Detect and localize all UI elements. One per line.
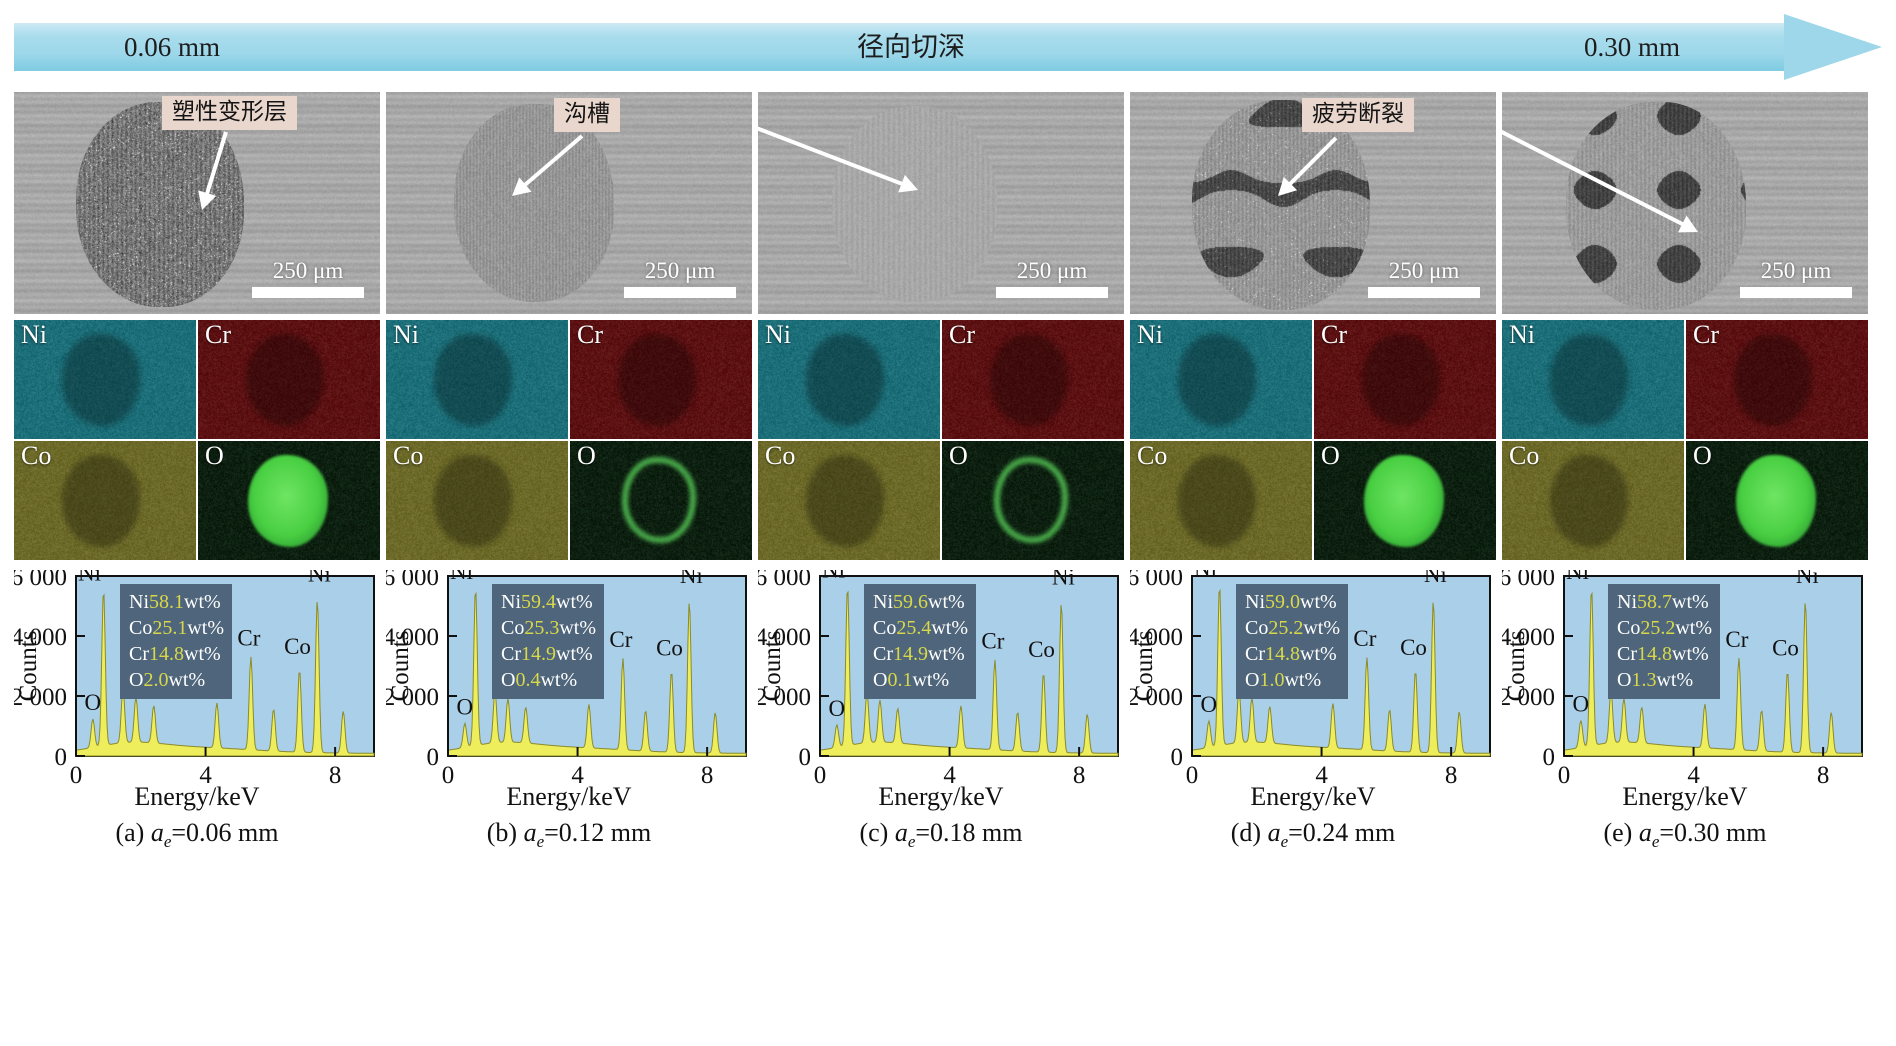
composition-element: O xyxy=(1245,669,1259,691)
composition-value: 2.0 xyxy=(143,669,168,691)
eds-map-cell-ni: Ni xyxy=(1130,320,1312,439)
eds-map-cell-co: Co xyxy=(14,441,196,560)
composition-element: Ni xyxy=(1245,591,1265,613)
eds-map-cell-o: O xyxy=(1686,441,1868,560)
composition-box-b: Ni59.4wt%Co25.3wt%Cr14.9wt%O0.4wt% xyxy=(492,584,604,699)
panel-caption-d: (d) ae=0.24 mm xyxy=(1130,818,1496,852)
caption-symbol: a xyxy=(524,818,537,847)
panel-caption-a: (a) ae=0.06 mm xyxy=(14,818,380,852)
svg-text:Cr: Cr xyxy=(1353,626,1376,651)
eds-spectrum-a: 6 0004 0002 0000048ONiCrCoNi Counts Ni58… xyxy=(14,570,380,840)
composition-row: Ni59.6wt% xyxy=(873,589,968,615)
composition-element: Cr xyxy=(873,643,893,665)
eds-map-cell-co: Co xyxy=(1130,441,1312,560)
svg-text:Counts: Counts xyxy=(387,631,414,702)
svg-text:Counts: Counts xyxy=(1131,631,1158,702)
composition-row: Cr14.8wt% xyxy=(1245,641,1340,667)
svg-text:Ni: Ni xyxy=(308,570,331,587)
composition-value: 0.4 xyxy=(515,669,540,691)
composition-unit: wt% xyxy=(559,617,596,639)
eds-map-cell-o: O xyxy=(942,441,1124,560)
panel-column-e: 250 μmNiCrCoO 6 0004 0002 0000048ONiCrCo… xyxy=(1502,92,1868,1032)
eds-map-label: O xyxy=(577,442,596,469)
eds-map-cell-ni: Ni xyxy=(1502,320,1684,439)
svg-text:Ni: Ni xyxy=(450,570,473,584)
composition-value: 58.7 xyxy=(1637,591,1672,613)
composition-row: Cr14.9wt% xyxy=(501,641,596,667)
sem-micrograph-e: 250 μm xyxy=(1502,92,1868,314)
oxygen-signal-region xyxy=(1736,455,1816,547)
scale-bar-label: 250 μm xyxy=(996,259,1108,282)
svg-text:Counts: Counts xyxy=(15,631,42,702)
svg-text:6 000: 6 000 xyxy=(386,570,439,591)
eds-spectrum-e: 6 0004 0002 0000048ONiCrCoNi Counts Ni58… xyxy=(1502,570,1868,840)
caption-index: (d) xyxy=(1231,818,1261,847)
svg-text:Ni: Ni xyxy=(1194,570,1217,581)
composition-element: Ni xyxy=(501,591,521,613)
oxygen-signal-region xyxy=(622,457,696,543)
panel-caption-c: (c) ae=0.18 mm xyxy=(758,818,1124,852)
sem-micrograph-a: 塑性变形层250 μm xyxy=(14,92,380,314)
svg-text:0: 0 xyxy=(55,744,68,771)
eds-map-cell-cr: Cr xyxy=(1314,320,1496,439)
wear-scar-shadow xyxy=(990,334,1068,426)
eds-map-label: Ni xyxy=(765,321,791,348)
eds-map-label: Cr xyxy=(205,321,231,348)
composition-element: O xyxy=(1617,669,1631,691)
eds-map-label: Cr xyxy=(1321,321,1347,348)
scale-bar-line xyxy=(624,287,736,298)
scale-bar-label: 250 μm xyxy=(624,259,736,282)
caption-symbol: a xyxy=(1268,818,1281,847)
composition-element: Co xyxy=(129,617,152,639)
composition-value: 59.0 xyxy=(1265,591,1300,613)
svg-text:Co: Co xyxy=(1400,635,1427,660)
composition-value: 59.4 xyxy=(521,591,556,613)
wear-scar-region xyxy=(832,106,997,302)
svg-text:6 000: 6 000 xyxy=(1502,570,1555,591)
svg-text:O: O xyxy=(829,696,846,721)
composition-unit: wt% xyxy=(1284,669,1321,691)
eds-map-cell-co: Co xyxy=(758,441,940,560)
composition-element: Co xyxy=(873,617,896,639)
callout-label-a: 塑性变形层 xyxy=(162,96,297,130)
panel-column-b: 沟槽250 μmNiCrCoO 6 0004 0002 0000048ONiCr… xyxy=(386,92,752,1032)
svg-text:O: O xyxy=(85,690,102,715)
wear-scar-shadow xyxy=(806,334,884,426)
composition-unit: wt% xyxy=(556,591,593,613)
eds-map-cell-o: O xyxy=(570,441,752,560)
composition-box-d: Ni59.0wt%Co25.2wt%Cr14.8wt%O1.0wt% xyxy=(1236,584,1348,699)
composition-row: O1.0wt% xyxy=(1245,667,1340,693)
composition-row: Ni58.1wt% xyxy=(129,589,224,615)
sem-micrograph-b: 沟槽250 μm xyxy=(386,92,752,314)
composition-unit: wt% xyxy=(187,617,224,639)
composition-unit: wt% xyxy=(556,643,593,665)
eds-map-cell-ni: Ni xyxy=(758,320,940,439)
caption-index: (b) xyxy=(487,818,517,847)
composition-value: 14.8 xyxy=(149,643,184,665)
caption-index: (c) xyxy=(859,818,888,847)
eds-map-label: Ni xyxy=(1509,321,1535,348)
scale-bar-d: 250 μm xyxy=(1368,259,1480,298)
svg-text:Ni: Ni xyxy=(78,570,101,586)
composition-element: Co xyxy=(501,617,524,639)
svg-text:Ni: Ni xyxy=(1566,570,1589,584)
composition-row: Co25.3wt% xyxy=(501,615,596,641)
svg-text:Ni: Ni xyxy=(822,570,845,583)
svg-text:6 000: 6 000 xyxy=(14,570,67,591)
composition-row: Cr14.9wt% xyxy=(873,641,968,667)
eds-map-label: Cr xyxy=(949,321,975,348)
svg-text:Cr: Cr xyxy=(237,626,260,651)
composition-row: Co25.4wt% xyxy=(873,615,968,641)
caption-symbol: a xyxy=(1639,818,1652,847)
svg-text:Ni: Ni xyxy=(1052,570,1075,590)
eds-element-map-a: NiCrCoO xyxy=(14,320,380,560)
caption-value: =0.12 mm xyxy=(544,818,651,847)
composition-unit: wt% xyxy=(928,643,965,665)
caption-symbol: a xyxy=(895,818,908,847)
panel-column-c: 250 μmNiCrCoO 6 0004 0002 0000048ONiCrCo… xyxy=(758,92,1124,1032)
panel-caption-e: (e) ae=0.30 mm xyxy=(1502,818,1868,852)
svg-text:Co: Co xyxy=(284,634,311,659)
eds-element-map-e: NiCrCoO xyxy=(1502,320,1868,560)
sem-micrograph-c: 250 μm xyxy=(758,92,1124,314)
composition-value: 25.4 xyxy=(896,617,931,639)
wear-scar-region xyxy=(1566,102,1746,310)
banner-center-label: 径向切深 xyxy=(857,23,965,71)
scale-bar-line xyxy=(252,287,364,298)
wear-scar-region xyxy=(76,102,244,307)
svg-text:6 000: 6 000 xyxy=(1130,570,1183,591)
composition-value: 14.8 xyxy=(1637,643,1672,665)
composition-row: O0.4wt% xyxy=(501,667,596,693)
composition-value: 14.9 xyxy=(521,643,556,665)
x-axis-title: Energy/keV xyxy=(1130,782,1496,812)
svg-text:Ni: Ni xyxy=(1424,570,1447,587)
scale-bar-label: 250 μm xyxy=(252,259,364,282)
panel-column-d: 疲劳断裂250 μmNiCrCoO 6 0004 0002 0000048ONi… xyxy=(1130,92,1496,1032)
eds-map-label: Co xyxy=(393,442,423,469)
svg-text:O: O xyxy=(457,695,474,720)
composition-unit: wt% xyxy=(931,617,968,639)
svg-text:0: 0 xyxy=(1171,744,1184,771)
svg-text:0: 0 xyxy=(427,744,440,771)
composition-unit: wt% xyxy=(184,591,221,613)
composition-row: O0.1wt% xyxy=(873,667,968,693)
eds-map-cell-co: Co xyxy=(1502,441,1684,560)
banner-left-label: 0.06 mm xyxy=(124,23,220,71)
wear-scar-shadow xyxy=(434,455,512,547)
wear-scar-shadow xyxy=(246,334,324,426)
composition-row: Ni59.0wt% xyxy=(1245,589,1340,615)
composition-unit: wt% xyxy=(540,669,577,691)
callout-label-b: 沟槽 xyxy=(554,98,620,132)
caption-symbol: a xyxy=(151,818,164,847)
scale-bar-label: 250 μm xyxy=(1740,259,1852,282)
svg-text:Counts: Counts xyxy=(759,631,786,702)
composition-element: Cr xyxy=(501,643,521,665)
composition-element: Ni xyxy=(129,591,149,613)
scale-bar-e: 250 μm xyxy=(1740,259,1852,298)
composition-element: Co xyxy=(1245,617,1268,639)
composition-row: O1.3wt% xyxy=(1617,667,1712,693)
composition-element: Ni xyxy=(1617,591,1637,613)
composition-box-c: Ni59.6wt%Co25.4wt%Cr14.9wt%O0.1wt% xyxy=(864,584,976,699)
composition-value: 58.1 xyxy=(149,591,184,613)
figure-root: 0.06 mm 径向切深 0.30 mm 塑性变形层250 μmNiCrCoO … xyxy=(0,0,1896,1046)
svg-text:Ni: Ni xyxy=(680,570,703,588)
eds-map-label: O xyxy=(205,442,224,469)
panel-columns: 塑性变形层250 μmNiCrCoO 6 0004 0002 0000048ON… xyxy=(14,92,1882,1032)
composition-element: Cr xyxy=(1245,643,1265,665)
composition-unit: wt% xyxy=(1672,591,1709,613)
x-axis-title: Energy/keV xyxy=(758,782,1124,812)
wear-scar-shadow xyxy=(1550,455,1628,547)
eds-map-label: O xyxy=(1693,442,1712,469)
svg-text:Cr: Cr xyxy=(1725,627,1748,652)
svg-text:Co: Co xyxy=(656,636,683,661)
composition-element: O xyxy=(501,669,515,691)
composition-element: Ni xyxy=(873,591,893,613)
scale-bar-c: 250 μm xyxy=(996,259,1108,298)
eds-spectrum-b: 6 0004 0002 0000048ONiCrCoNi Counts Ni59… xyxy=(386,570,752,840)
composition-unit: wt% xyxy=(1675,617,1712,639)
wear-scar-shadow xyxy=(62,455,140,547)
oxygen-signal-region xyxy=(248,455,328,547)
composition-value: 25.3 xyxy=(524,617,559,639)
svg-text:O: O xyxy=(1201,692,1218,717)
composition-row: Co25.2wt% xyxy=(1245,615,1340,641)
eds-map-label: Cr xyxy=(1693,321,1719,348)
eds-element-map-c: NiCrCoO xyxy=(758,320,1124,560)
composition-unit: wt% xyxy=(928,591,965,613)
radial-depth-banner: 0.06 mm 径向切深 0.30 mm xyxy=(14,14,1882,80)
caption-value: =0.24 mm xyxy=(1288,818,1395,847)
scale-bar-b: 250 μm xyxy=(624,259,736,298)
svg-text:Ni: Ni xyxy=(1796,570,1819,588)
composition-unit: wt% xyxy=(184,643,221,665)
x-axis-title: Energy/keV xyxy=(14,782,380,812)
composition-value: 1.3 xyxy=(1631,669,1656,691)
wear-scar-shadow xyxy=(1178,334,1256,426)
eds-map-label: Co xyxy=(765,442,795,469)
scale-bar-line xyxy=(1740,287,1852,298)
scale-bar-line xyxy=(996,287,1108,298)
caption-subscript: e xyxy=(537,832,545,851)
composition-box-e: Ni58.7wt%Co25.2wt%Cr14.8wt%O1.3wt% xyxy=(1608,584,1720,699)
callout-label-d: 疲劳断裂 xyxy=(1302,98,1414,132)
composition-row: O2.0wt% xyxy=(129,667,224,693)
eds-map-label: Ni xyxy=(21,321,47,348)
svg-text:Co: Co xyxy=(1772,636,1799,661)
eds-map-cell-cr: Cr xyxy=(570,320,752,439)
x-axis-title: Energy/keV xyxy=(386,782,752,812)
wear-scar-shadow xyxy=(434,334,512,426)
eds-spectrum-d: 6 0004 0002 0000048ONiCrCoNi Counts Ni59… xyxy=(1130,570,1496,840)
eds-map-label: Co xyxy=(1509,442,1539,469)
svg-text:6 000: 6 000 xyxy=(758,570,811,591)
wear-scar-shadow xyxy=(1550,334,1628,426)
caption-value: =0.18 mm xyxy=(915,818,1022,847)
eds-map-label: Cr xyxy=(577,321,603,348)
wear-scar-shadow xyxy=(806,455,884,547)
oxygen-signal-region xyxy=(994,457,1068,543)
composition-row: Ni58.7wt% xyxy=(1617,589,1712,615)
composition-row: Co25.1wt% xyxy=(129,615,224,641)
eds-map-label: O xyxy=(949,442,968,469)
composition-element: O xyxy=(873,669,887,691)
eds-map-cell-o: O xyxy=(198,441,380,560)
composition-value: 14.9 xyxy=(893,643,928,665)
oxygen-signal-region xyxy=(1364,455,1444,547)
svg-text:0: 0 xyxy=(1543,744,1556,771)
eds-map-label: Ni xyxy=(393,321,419,348)
composition-row: Co25.2wt% xyxy=(1617,615,1712,641)
composition-value: 14.8 xyxy=(1265,643,1300,665)
eds-map-cell-ni: Ni xyxy=(386,320,568,439)
composition-value: 59.6 xyxy=(893,591,928,613)
eds-map-cell-co: Co xyxy=(386,441,568,560)
scale-bar-label: 250 μm xyxy=(1368,259,1480,282)
composition-value: 0.1 xyxy=(887,669,912,691)
banner-right-label: 0.30 mm xyxy=(1584,23,1680,71)
composition-value: 25.2 xyxy=(1268,617,1303,639)
composition-row: Cr14.8wt% xyxy=(1617,641,1712,667)
eds-map-cell-cr: Cr xyxy=(198,320,380,439)
composition-element: Co xyxy=(1617,617,1640,639)
eds-map-cell-ni: Ni xyxy=(14,320,196,439)
composition-box-a: Ni58.1wt%Co25.1wt%Cr14.8wt%O2.0wt% xyxy=(120,584,232,699)
wear-scar-shadow xyxy=(1362,334,1440,426)
composition-unit: wt% xyxy=(1303,617,1340,639)
panel-column-a: 塑性变形层250 μmNiCrCoO 6 0004 0002 0000048ON… xyxy=(14,92,380,1032)
caption-index: (e) xyxy=(1603,818,1632,847)
composition-unit: wt% xyxy=(1300,591,1337,613)
composition-element: Cr xyxy=(1617,643,1637,665)
panel-caption-b: (b) ae=0.12 mm xyxy=(386,818,752,852)
banner-arrow-head-icon xyxy=(1784,14,1882,80)
composition-unit: wt% xyxy=(1300,643,1337,665)
composition-value: 1.0 xyxy=(1259,669,1284,691)
eds-map-label: Ni xyxy=(1137,321,1163,348)
caption-value: =0.06 mm xyxy=(171,818,278,847)
composition-value: 25.2 xyxy=(1640,617,1675,639)
composition-row: Cr14.8wt% xyxy=(129,641,224,667)
wear-scar-shadow xyxy=(618,334,696,426)
caption-subscript: e xyxy=(1281,832,1289,851)
eds-map-label: O xyxy=(1321,442,1340,469)
composition-unit: wt% xyxy=(1656,669,1693,691)
svg-text:Cr: Cr xyxy=(981,629,1004,654)
eds-map-label: Co xyxy=(1137,442,1167,469)
scale-bar-line xyxy=(1368,287,1480,298)
eds-map-cell-cr: Cr xyxy=(1686,320,1868,439)
composition-row: Ni59.4wt% xyxy=(501,589,596,615)
eds-map-label: Co xyxy=(21,442,51,469)
x-axis-title: Energy/keV xyxy=(1502,782,1868,812)
svg-text:Counts: Counts xyxy=(1503,631,1530,702)
composition-unit: wt% xyxy=(168,669,205,691)
eds-element-map-d: NiCrCoO xyxy=(1130,320,1496,560)
eds-map-cell-cr: Cr xyxy=(942,320,1124,439)
svg-text:Co: Co xyxy=(1028,637,1055,662)
svg-text:O: O xyxy=(1573,692,1590,717)
wear-scar-shadow xyxy=(62,334,140,426)
composition-element: O xyxy=(129,669,143,691)
wear-scar-shadow xyxy=(1178,455,1256,547)
composition-value: 25.1 xyxy=(152,617,187,639)
composition-unit: wt% xyxy=(1672,643,1709,665)
wear-scar-shadow xyxy=(1734,334,1812,426)
eds-spectrum-c: 6 0004 0002 0000048ONiCrCoNi Counts Ni59… xyxy=(758,570,1124,840)
eds-map-cell-o: O xyxy=(1314,441,1496,560)
composition-unit: wt% xyxy=(912,669,949,691)
sem-micrograph-d: 疲劳断裂250 μm xyxy=(1130,92,1496,314)
svg-text:Cr: Cr xyxy=(609,627,632,652)
wear-scar-region xyxy=(454,104,614,302)
caption-index: (a) xyxy=(115,818,144,847)
scale-bar-a: 250 μm xyxy=(252,259,364,298)
svg-text:0: 0 xyxy=(799,744,812,771)
caption-value: =0.30 mm xyxy=(1659,818,1766,847)
eds-element-map-b: NiCrCoO xyxy=(386,320,752,560)
composition-element: Cr xyxy=(129,643,149,665)
